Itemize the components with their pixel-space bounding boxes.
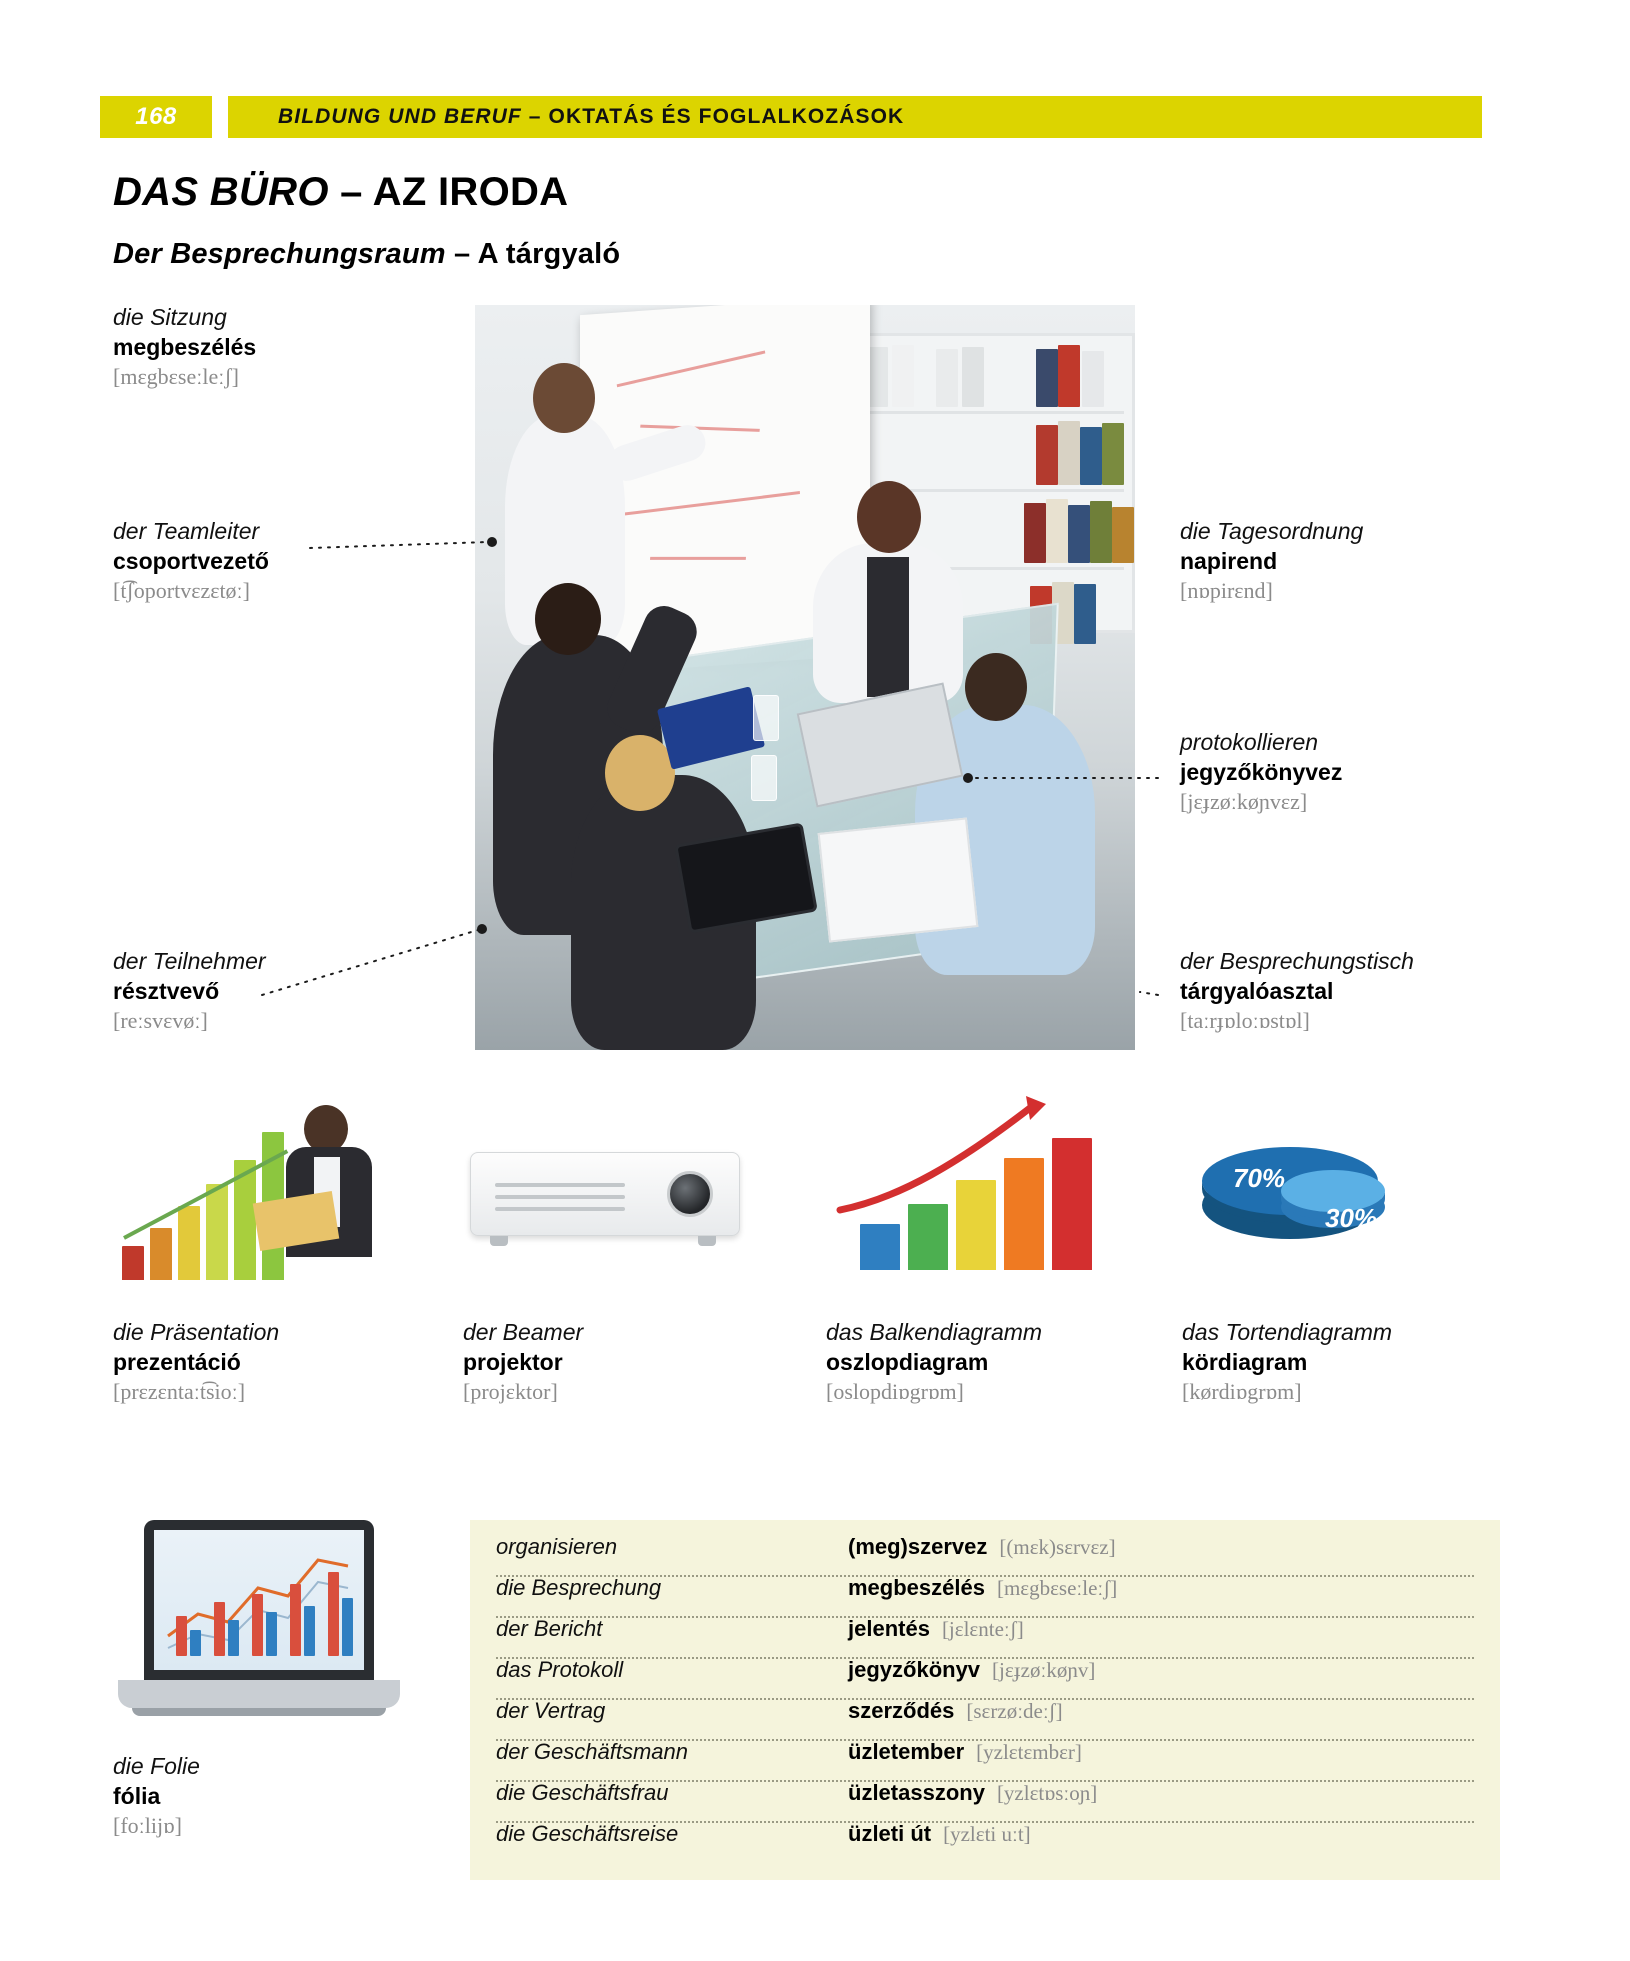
wordlist-de: der Geschäftsmann — [496, 1739, 848, 1765]
vocab-de: die Präsentation — [113, 1318, 279, 1348]
wordlist-hu: üzletasszony — [848, 1780, 985, 1806]
wordlist-ipa: [yzlɛti uːt] — [943, 1822, 1031, 1847]
page-header-band: 168 BILDUNG UND BERUF – OKTATÁS ÉS FOGLA… — [100, 96, 1482, 138]
wordlist-ipa: [(mɛk)sɛrvɛz] — [999, 1535, 1115, 1560]
section-title-sep: – — [522, 105, 549, 128]
section-title-box: BILDUNG UND BERUF – OKTATÁS ÉS FOGLALKOZ… — [228, 96, 1482, 138]
vocab-ipa: [nɒpirɛnd] — [1180, 577, 1363, 606]
vocab-hu: megbeszélés — [113, 333, 256, 363]
vocab-hu: napirend — [1180, 547, 1363, 577]
wordlist-de: die Geschäftsfrau — [496, 1780, 848, 1806]
page-title-de: DAS BÜRO — [113, 170, 329, 214]
vocab-ipa: [reːsvɛvøː] — [113, 1007, 266, 1036]
wordlist-de: das Protokoll — [496, 1657, 848, 1683]
vocab-de: die Folie — [113, 1752, 200, 1782]
wordlist-de: organisieren — [496, 1534, 848, 1560]
vocab-hu: jegyzőkönyvez — [1180, 758, 1342, 788]
laptop-screen-chart — [154, 1530, 364, 1670]
vocab-ipa: [projɛktor] — [463, 1378, 583, 1407]
vocab-entry-tortendiagramm: das Tortendiagramm kördiagram [kørdiɒgrɒ… — [1182, 1318, 1392, 1406]
vocab-entry-teamleiter: der Teamleiter csoportvezető [t͡ʃoportvɛ… — [113, 517, 269, 605]
laptop-screen — [144, 1520, 374, 1680]
page-subtitle-de: Der Besprechungsraum — [113, 238, 446, 270]
wordlist-ipa: [jɛɟzøːkøɲv] — [992, 1658, 1095, 1683]
table-row: das Protokoll jegyzőkönyv [jɛɟzøːkøɲv] — [470, 1657, 1500, 1698]
vocab-de: die Sitzung — [113, 303, 256, 333]
wordlist-hu: jelentés — [848, 1616, 930, 1642]
wordlist-ipa: [mɛgbɛseːleːʃ] — [997, 1576, 1117, 1601]
vocab-entry-beamer: der Beamer projektor [projɛktor] — [463, 1318, 583, 1406]
photo-person-vest — [867, 557, 909, 697]
bar-chart-icon — [830, 1090, 1130, 1270]
vocab-ipa: [prɛzɛntaːt͡sioː] — [113, 1378, 279, 1407]
page-subtitle-sep: – — [446, 238, 478, 270]
pie-slice-label-30: 30% — [1325, 1203, 1377, 1234]
vocab-entry-balkendiagramm: das Balkendiagramm oszlopdiagram [oslopd… — [826, 1318, 1042, 1406]
vocab-de: der Beamer — [463, 1318, 583, 1348]
wordlist-hu: (meg)szervez — [848, 1534, 987, 1560]
pie-chart-svg — [1185, 1085, 1425, 1275]
vocab-de: der Teamleiter — [113, 517, 269, 547]
vocab-entry-praesentation: die Präsentation prezentáció [prɛzɛntaːt… — [113, 1318, 279, 1406]
vocab-ipa: [mɛgbɛseːleːʃ] — [113, 363, 256, 392]
vocab-ipa: [kørdiɒgrɒm] — [1182, 1378, 1392, 1407]
band-divider — [212, 96, 228, 138]
page-subtitle: Der Besprechungsraum – A tárgyaló — [113, 238, 620, 271]
vocab-de: der Teilnehmer — [113, 947, 266, 977]
pie-chart-icon: 70% 30% — [1185, 1085, 1425, 1275]
wordlist-de: die Besprechung — [496, 1575, 848, 1601]
vocab-entry-teilnehmer: der Teilnehmer résztvevő [reːsvɛvøː] — [113, 947, 266, 1035]
photo-water-glass — [753, 695, 779, 741]
photo-person-head — [533, 363, 595, 433]
table-row: die Geschäftsfrau üzletasszony [yzlɛtɒsː… — [470, 1780, 1500, 1821]
photo-person-head — [857, 481, 921, 553]
wordlist-ipa: [yzlɛtɛmbɛr] — [976, 1740, 1082, 1765]
vocab-de: der Besprechungstisch — [1180, 947, 1414, 977]
page-number: 168 — [135, 103, 177, 131]
wordlist-hu: üzletember — [848, 1739, 964, 1765]
section-title: BILDUNG UND BERUF – OKTATÁS ÉS FOGLALKOZ… — [278, 105, 904, 129]
vocab-ipa: [jɛɟzøːkøɲvɛz] — [1180, 788, 1342, 817]
page-subtitle-hu: A tárgyaló — [478, 238, 621, 270]
photo-person-head — [965, 653, 1027, 721]
vocab-de: die Tagesordnung — [1180, 517, 1363, 547]
vocab-hu: tárgyalóasztal — [1180, 977, 1414, 1007]
wordlist-ipa: [sɛrzøːdeːʃ] — [966, 1699, 1062, 1724]
vocab-de: protokollieren — [1180, 728, 1342, 758]
vocab-de: das Tortendiagramm — [1182, 1318, 1392, 1348]
photo-papers — [818, 817, 979, 942]
table-row: der Vertrag szerződés [sɛrzøːdeːʃ] — [470, 1698, 1500, 1739]
photo-person-head — [535, 583, 601, 655]
laptop-keyboard-base — [118, 1680, 400, 1708]
section-title-hu: OKTATÁS ÉS FOGLALKOZÁSOK — [549, 105, 905, 128]
vocab-hu: csoportvezető — [113, 547, 269, 577]
page-number-box: 168 — [100, 96, 212, 138]
projector-icon — [460, 1130, 760, 1260]
table-row: der Geschäftsmann üzletember [yzlɛtɛmbɛr… — [470, 1739, 1500, 1780]
wordlist-hu: szerződés — [848, 1698, 954, 1724]
page-title-hu: AZ IRODA — [373, 170, 569, 214]
wordlist-de: der Vertrag — [496, 1698, 848, 1724]
page-title-sep: – — [329, 170, 373, 214]
vocab-entry-sitzung: die Sitzung megbeszélés [mɛgbɛseːleːʃ] — [113, 303, 256, 391]
section-title-de: BILDUNG UND BERUF — [278, 105, 522, 128]
wordlist-hu: megbeszélés — [848, 1575, 985, 1601]
laptop-icon — [118, 1520, 418, 1730]
wordlist-de: der Bericht — [496, 1616, 848, 1642]
vocab-hu: prezentáció — [113, 1348, 279, 1378]
wordlist-ipa: [jɛlɛnteːʃ] — [942, 1617, 1024, 1642]
vocab-ipa: [taːrɟɒloːɒstɒl] — [1180, 1007, 1414, 1036]
pie-slice-label-70: 70% — [1233, 1163, 1285, 1194]
page-title: DAS BÜRO – AZ IRODA — [113, 170, 568, 215]
wordlist-ipa: [yzlɛtɒsːoɲ] — [997, 1781, 1097, 1806]
vocab-ipa: [oslopdiɒgrɒm] — [826, 1378, 1042, 1407]
vocab-hu: kördiagram — [1182, 1348, 1392, 1378]
vocab-hu: résztvevő — [113, 977, 266, 1007]
vocab-hu: fólia — [113, 1782, 200, 1812]
wordlist-de: die Geschäftsreise — [496, 1821, 848, 1847]
vocab-hu: oszlopdiagram — [826, 1348, 1042, 1378]
presentation-chart-icon — [118, 1090, 418, 1280]
meeting-room-photo — [475, 305, 1135, 1050]
vocab-ipa: [foːlijɒ] — [113, 1812, 200, 1841]
wordlist-hu: jegyzőkönyv — [848, 1657, 980, 1683]
vocab-entry-folie: die Folie fólia [foːlijɒ] — [113, 1752, 200, 1840]
vocab-de: das Balkendiagramm — [826, 1318, 1042, 1348]
vocab-ipa: [t͡ʃoportvɛzɛtøː] — [113, 577, 269, 606]
wordlist-hu: üzleti út — [848, 1821, 931, 1847]
table-row: die Geschäftsreise üzleti út [yzlɛti uːt… — [470, 1821, 1500, 1862]
vocab-entry-protokollieren: protokollieren jegyzőkönyvez [jɛɟzøːkøɲv… — [1180, 728, 1342, 816]
table-row: die Besprechung megbeszélés [mɛgbɛseːleː… — [470, 1575, 1500, 1616]
table-row: der Bericht jelentés [jɛlɛnteːʃ] — [470, 1616, 1500, 1657]
vocab-entry-tagesordnung: die Tagesordnung napirend [nɒpirɛnd] — [1180, 517, 1363, 605]
vocab-entry-besprechungstisch: der Besprechungstisch tárgyalóasztal [ta… — [1180, 947, 1414, 1035]
vocabulary-wordlist-table: organisieren (meg)szervez [(mɛk)sɛrvɛz] … — [470, 1520, 1500, 1880]
photo-water-glass — [751, 755, 777, 801]
photo-person-head — [605, 735, 675, 811]
vocab-hu: projektor — [463, 1348, 583, 1378]
table-row: organisieren (meg)szervez [(mɛk)sɛrvɛz] — [470, 1534, 1500, 1575]
